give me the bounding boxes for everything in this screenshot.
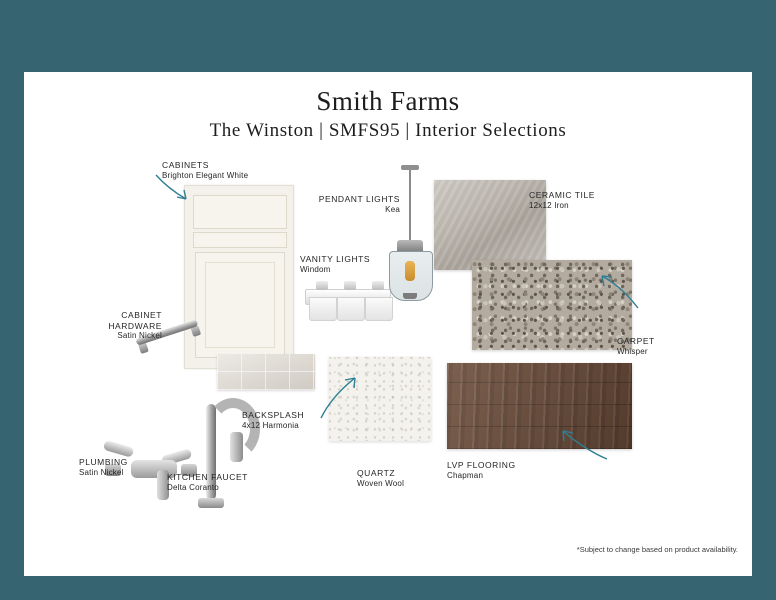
page-subtitle: The Winston | SMFS95 | Interior Selectio… bbox=[24, 120, 752, 142]
cabinet-hardware-caption-line1: CABINET bbox=[84, 310, 162, 321]
quartz-arrow bbox=[319, 372, 363, 422]
label-backsplash: BACKSPLASH 4x12 Harmonia bbox=[242, 410, 304, 431]
pendant-base bbox=[403, 293, 417, 299]
vanity-shade-2 bbox=[337, 297, 365, 321]
page-title: Smith Farms bbox=[24, 86, 752, 117]
lvp-flooring-arrow bbox=[557, 427, 611, 465]
carpet-arrow bbox=[594, 268, 642, 312]
backsplash-detail: 4x12 Harmonia bbox=[242, 421, 304, 431]
right-border-band bbox=[752, 0, 776, 600]
cabinet-swatch bbox=[184, 185, 294, 369]
pendant-light-image bbox=[387, 165, 433, 311]
label-plumbing: PLUMBING Satin Nickel bbox=[79, 457, 128, 478]
vanity-lights-detail: Windom bbox=[300, 265, 370, 275]
cabinet-hardware-detail: Satin Nickel bbox=[84, 331, 162, 341]
quartz-detail: Woven Wool bbox=[357, 479, 404, 489]
label-carpet: CARPET Whisper bbox=[617, 336, 655, 357]
pendant-lights-detail: Kea bbox=[312, 205, 400, 215]
pendant-lights-caption: PENDANT LIGHTS bbox=[312, 194, 400, 205]
kitchen-faucet-detail: Delta Coranto bbox=[167, 483, 248, 493]
ceramic-tile-caption: CERAMIC TILE bbox=[529, 190, 595, 201]
vanity-lights-caption: VANITY LIGHTS bbox=[300, 254, 370, 265]
lvp-flooring-caption: LVP FLOORING bbox=[447, 460, 516, 471]
label-cabinet-hardware: CABINET HARDWARE Satin Nickel bbox=[84, 310, 162, 341]
label-vanity-lights: VANITY LIGHTS Windom bbox=[300, 254, 370, 275]
cabinet-door-panel bbox=[195, 252, 285, 358]
plumbing-handle-left bbox=[103, 440, 135, 458]
kitchen-faucet-caption: KITCHEN FAUCET bbox=[167, 472, 248, 483]
label-quartz: QUARTZ Woven Wool bbox=[357, 468, 404, 489]
backsplash-swatch bbox=[217, 354, 315, 390]
label-pendant-lights: PENDANT LIGHTS Kea bbox=[312, 194, 400, 215]
cabinet-upper-panel bbox=[193, 195, 287, 229]
cabinets-caption: CABINETS bbox=[162, 160, 248, 171]
lvp-flooring-detail: Chapman bbox=[447, 471, 516, 481]
backsplash-caption: BACKSPLASH bbox=[242, 410, 304, 421]
ceramic-tile-detail: 12x12 Iron bbox=[529, 201, 595, 211]
cabinet-drawer-panel bbox=[193, 232, 287, 248]
selection-board-page: Smith Farms The Winston | SMFS95 | Inter… bbox=[0, 0, 776, 600]
plumbing-caption: PLUMBING bbox=[79, 457, 128, 468]
label-kitchen-faucet: KITCHEN FAUCET Delta Coranto bbox=[167, 472, 248, 493]
label-ceramic-tile: CERAMIC TILE 12x12 Iron bbox=[529, 190, 595, 211]
top-border-band bbox=[0, 0, 776, 72]
label-lvp-flooring: LVP FLOORING Chapman bbox=[447, 460, 516, 481]
faucet-spray-head bbox=[230, 432, 243, 462]
carpet-detail: Whisper bbox=[617, 347, 655, 357]
vanity-socket-1 bbox=[316, 281, 328, 290]
pendant-rod bbox=[409, 170, 411, 242]
vanity-socket-3 bbox=[372, 281, 384, 290]
board-canvas: Smith Farms The Winston | SMFS95 | Inter… bbox=[24, 72, 752, 576]
label-cabinets: CABINETS Brighton Elegant White bbox=[162, 160, 248, 181]
left-border-band bbox=[0, 0, 24, 600]
vanity-socket-2 bbox=[344, 281, 356, 290]
plumbing-detail: Satin Nickel bbox=[79, 468, 128, 478]
vanity-shade-1 bbox=[309, 297, 337, 321]
cabinet-hardware-caption-line2: HARDWARE bbox=[84, 321, 162, 332]
quartz-caption: QUARTZ bbox=[357, 468, 404, 479]
bottom-border-band bbox=[0, 576, 776, 600]
availability-footnote: *Subject to change based on product avai… bbox=[577, 545, 738, 554]
cabinets-detail: Brighton Elegant White bbox=[162, 171, 248, 181]
vanity-light-image bbox=[299, 267, 395, 323]
carpet-caption: CARPET bbox=[617, 336, 655, 347]
pendant-bulb bbox=[405, 261, 415, 281]
